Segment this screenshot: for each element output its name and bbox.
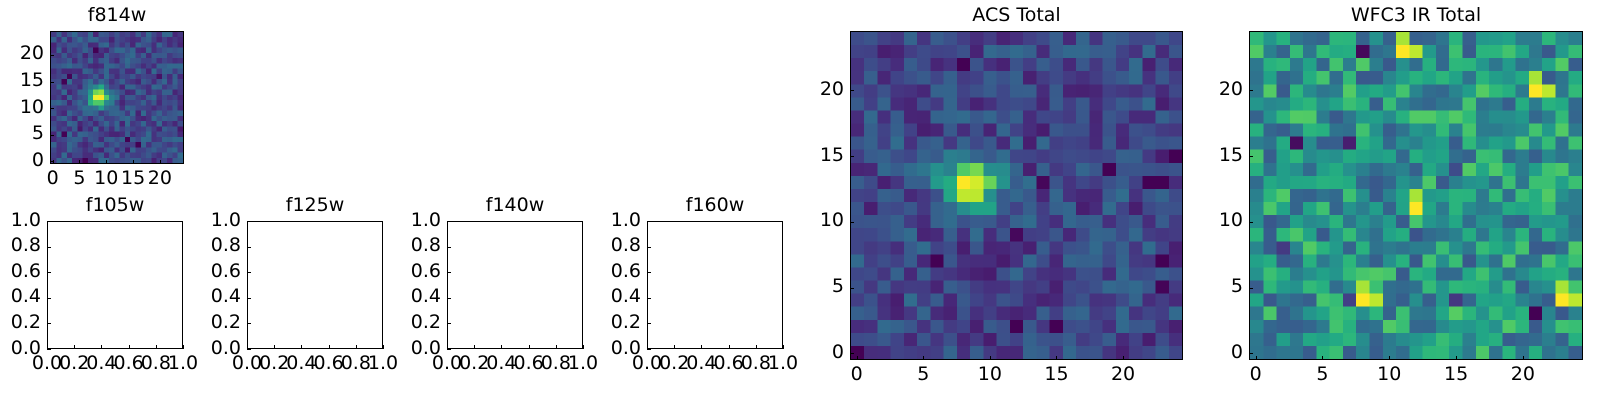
tick-mark-x-acs-total	[857, 356, 858, 360]
tick-mark-x-f814w	[79, 160, 80, 164]
tick-label-y-wfc3-ir-total: 10	[1163, 211, 1243, 230]
tick-mark-y-f814w	[50, 108, 54, 109]
tick-mark-y-wfc3-ir-total	[1249, 90, 1253, 91]
tick-mark-x-wfc3-ir-total	[1389, 356, 1390, 360]
tick-label-y-f814w: 15	[0, 71, 44, 90]
panel-f160w-axes	[647, 221, 783, 349]
panel-wfc3-ir-total: WFC3 IR Total	[1249, 6, 1583, 384]
tick-label-y-f160w: 1.0	[561, 211, 641, 230]
tick-mark-y-f160w	[647, 349, 651, 350]
tick-mark-y-f125w	[247, 221, 251, 222]
panel-acs-total: ACS Total	[850, 6, 1183, 384]
panel-wfc3-ir-total-heatmap	[1250, 32, 1582, 359]
tick-label-y-f160w: 0.6	[561, 262, 641, 281]
panel-f814w-heatmap	[51, 32, 183, 163]
tick-label-y-f140w: 1.0	[361, 211, 441, 230]
tick-label-y-acs-total: 5	[764, 277, 844, 296]
tick-mark-x-f125w	[356, 345, 357, 349]
panel-acs-total-axes	[850, 31, 1183, 360]
tick-mark-y-f105w	[47, 349, 51, 350]
tick-label-y-f140w: 0.2	[361, 313, 441, 332]
tick-label-y-wfc3-ir-total: 15	[1163, 146, 1243, 165]
tick-mark-x-f105w	[156, 345, 157, 349]
tick-mark-y-f814w	[50, 55, 54, 56]
tick-mark-y-f105w	[47, 221, 51, 222]
tick-label-x-f814w: 20	[120, 169, 200, 188]
tick-label-y-f814w: 0	[0, 151, 44, 170]
tick-label-y-f105w: 0.6	[0, 262, 41, 281]
tick-mark-x-f140w	[556, 345, 557, 349]
tick-mark-x-f814w	[106, 160, 107, 164]
tick-mark-y-f125w	[247, 272, 251, 273]
panel-f814w-title: f814w	[50, 6, 184, 25]
tick-label-y-f105w: 1.0	[0, 211, 41, 230]
tick-mark-y-acs-total	[850, 353, 854, 354]
tick-label-y-f125w: 0.0	[161, 339, 241, 358]
tick-label-y-acs-total: 10	[764, 211, 844, 230]
tick-mark-x-f160w	[729, 345, 730, 349]
tick-label-y-wfc3-ir-total: 5	[1163, 277, 1243, 296]
tick-mark-y-f160w	[647, 272, 651, 273]
tick-label-y-f140w: 0.8	[361, 236, 441, 255]
tick-mark-y-f105w	[47, 247, 51, 248]
tick-mark-x-f814w	[160, 160, 161, 164]
tick-label-x-wfc3-ir-total: 20	[1483, 365, 1563, 384]
tick-label-y-f125w: 0.4	[161, 287, 241, 306]
tick-mark-y-f125w	[247, 323, 251, 324]
tick-mark-x-wfc3-ir-total	[1456, 356, 1457, 360]
tick-mark-x-f125w	[301, 345, 302, 349]
tick-mark-x-f125w	[329, 345, 330, 349]
tick-mark-y-f105w	[47, 298, 51, 299]
tick-mark-x-f160w	[674, 345, 675, 349]
tick-mark-y-acs-total	[850, 90, 854, 91]
tick-mark-y-f140w	[447, 349, 451, 350]
tick-mark-y-f140w	[447, 221, 451, 222]
tick-mark-y-f125w	[247, 349, 251, 350]
tick-label-y-f105w: 0.2	[0, 313, 41, 332]
tick-mark-x-f160w	[756, 345, 757, 349]
tick-mark-y-wfc3-ir-total	[1249, 222, 1253, 223]
tick-mark-y-f160w	[647, 323, 651, 324]
tick-mark-y-f160w	[647, 221, 651, 222]
tick-mark-y-f160w	[647, 247, 651, 248]
tick-label-y-f140w: 0.0	[361, 339, 441, 358]
tick-mark-x-wfc3-ir-total	[1256, 356, 1257, 360]
tick-mark-x-acs-total	[990, 356, 991, 360]
tick-mark-y-acs-total	[850, 288, 854, 289]
tick-mark-y-f140w	[447, 247, 451, 248]
tick-label-y-f105w: 0.8	[0, 236, 41, 255]
tick-label-y-wfc3-ir-total: 20	[1163, 80, 1243, 99]
tick-label-y-f160w: 0.4	[561, 287, 641, 306]
tick-mark-y-f814w	[50, 82, 54, 83]
tick-label-x-acs-total: 20	[1083, 365, 1163, 384]
panel-acs-total-title: ACS Total	[850, 6, 1183, 25]
panel-wfc3-ir-total-axes	[1249, 31, 1583, 360]
panel-wfc3-ir-total-title: WFC3 IR Total	[1249, 6, 1583, 25]
tick-mark-y-wfc3-ir-total	[1249, 353, 1253, 354]
tick-mark-x-f125w	[274, 345, 275, 349]
tick-label-y-f160w: 0.8	[561, 236, 641, 255]
tick-label-y-acs-total: 0	[764, 343, 844, 362]
tick-mark-x-acs-total	[1123, 356, 1124, 360]
tick-label-y-f125w: 0.6	[161, 262, 241, 281]
tick-label-y-f125w: 0.8	[161, 236, 241, 255]
tick-mark-x-f160w	[701, 345, 702, 349]
tick-label-y-acs-total: 20	[764, 80, 844, 99]
tick-mark-y-acs-total	[850, 156, 854, 157]
tick-label-y-acs-total: 15	[764, 146, 844, 165]
tick-mark-y-f125w	[247, 298, 251, 299]
tick-label-y-f125w: 1.0	[161, 211, 241, 230]
tick-mark-y-wfc3-ir-total	[1249, 156, 1253, 157]
panel-f814w: f814w	[50, 6, 184, 188]
panel-acs-total-heatmap	[851, 32, 1182, 359]
tick-mark-x-f814w	[133, 160, 134, 164]
tick-mark-x-acs-total	[1056, 356, 1057, 360]
tick-mark-x-f140w	[474, 345, 475, 349]
tick-mark-y-f140w	[447, 323, 451, 324]
tick-mark-x-f140w	[501, 345, 502, 349]
panel-f814w-axes	[50, 31, 184, 164]
tick-mark-x-f105w	[74, 345, 75, 349]
tick-mark-y-f140w	[447, 272, 451, 273]
tick-mark-x-f140w	[529, 345, 530, 349]
tick-label-y-f814w: 20	[0, 44, 44, 63]
tick-mark-y-f140w	[447, 298, 451, 299]
tick-mark-y-f125w	[247, 247, 251, 248]
tick-label-y-f140w: 0.6	[361, 262, 441, 281]
tick-label-y-f814w: 10	[0, 98, 44, 117]
panel-f160w: f160w	[647, 196, 783, 354]
panel-f160w-title: f160w	[647, 196, 783, 215]
tick-mark-x-f105w	[101, 345, 102, 349]
tick-mark-y-f160w	[647, 298, 651, 299]
tick-label-y-f814w: 5	[0, 124, 44, 143]
tick-label-y-wfc3-ir-total: 0	[1163, 343, 1243, 362]
tick-label-y-f105w: 0.4	[0, 287, 41, 306]
tick-mark-x-f105w	[129, 345, 130, 349]
tick-label-y-f160w: 0.0	[561, 339, 641, 358]
tick-mark-x-acs-total	[923, 356, 924, 360]
tick-label-y-f125w: 0.2	[161, 313, 241, 332]
tick-label-y-f105w: 0.0	[0, 339, 41, 358]
tick-mark-y-f105w	[47, 323, 51, 324]
tick-mark-x-wfc3-ir-total	[1523, 356, 1524, 360]
tick-mark-y-f814w	[50, 161, 54, 162]
tick-mark-y-acs-total	[850, 222, 854, 223]
tick-mark-y-f105w	[47, 272, 51, 273]
tick-mark-y-wfc3-ir-total	[1249, 288, 1253, 289]
matplotlib-figure: f814w f105w f125w f140w f160w ACS Total …	[0, 0, 1600, 400]
tick-mark-y-f814w	[50, 135, 54, 136]
tick-label-y-f160w: 0.2	[561, 313, 641, 332]
tick-label-y-f140w: 0.4	[361, 287, 441, 306]
tick-mark-x-wfc3-ir-total	[1322, 356, 1323, 360]
